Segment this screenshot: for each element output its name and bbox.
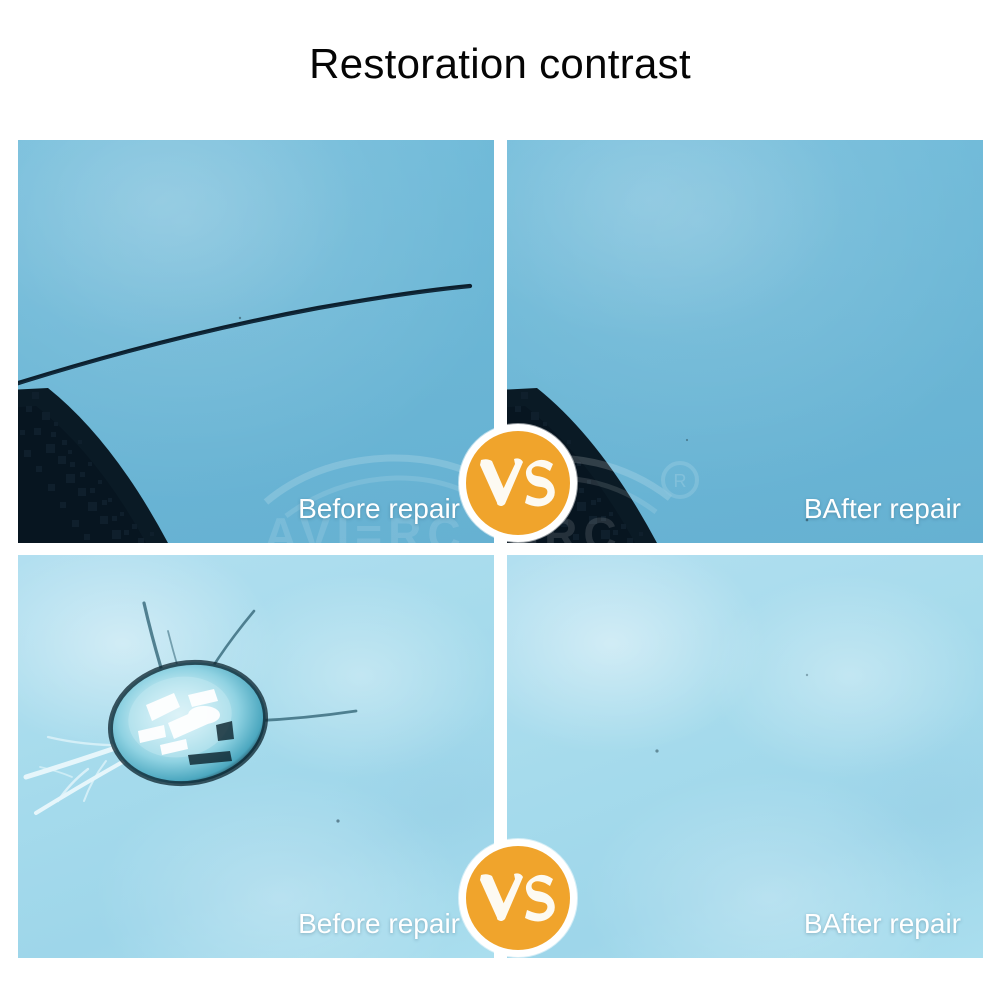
vs-badge-icon — [459, 424, 577, 542]
panel-after-crack[interactable]: R AVI=RC BAfter repair — [507, 140, 983, 543]
caption-after-repair-bottom: BAfter repair — [804, 908, 961, 940]
repaired-glass-illustration — [507, 140, 983, 543]
chip-damage-illustration — [18, 555, 494, 958]
caption-before-repair-bottom: Before repair — [298, 908, 460, 940]
panel-after-chip[interactable]: BAfter repair — [507, 555, 983, 958]
panel-before-chip[interactable]: Before repair — [18, 555, 494, 958]
vs-badge-icon — [459, 839, 577, 957]
caption-after-repair-top: BAfter repair — [804, 493, 961, 525]
crack-damage-illustration — [18, 140, 494, 543]
panel-before-crack[interactable]: R AVI=RC Before repair — [18, 140, 494, 543]
comparison-grid: R AVI=RC Before repair — [18, 140, 983, 958]
caption-before-repair-top: Before repair — [298, 493, 460, 525]
page-title: Restoration contrast — [0, 40, 1000, 88]
vs-text-glyph — [477, 871, 559, 925]
vs-text-glyph — [477, 456, 559, 510]
repaired-glass-illustration — [507, 555, 983, 958]
